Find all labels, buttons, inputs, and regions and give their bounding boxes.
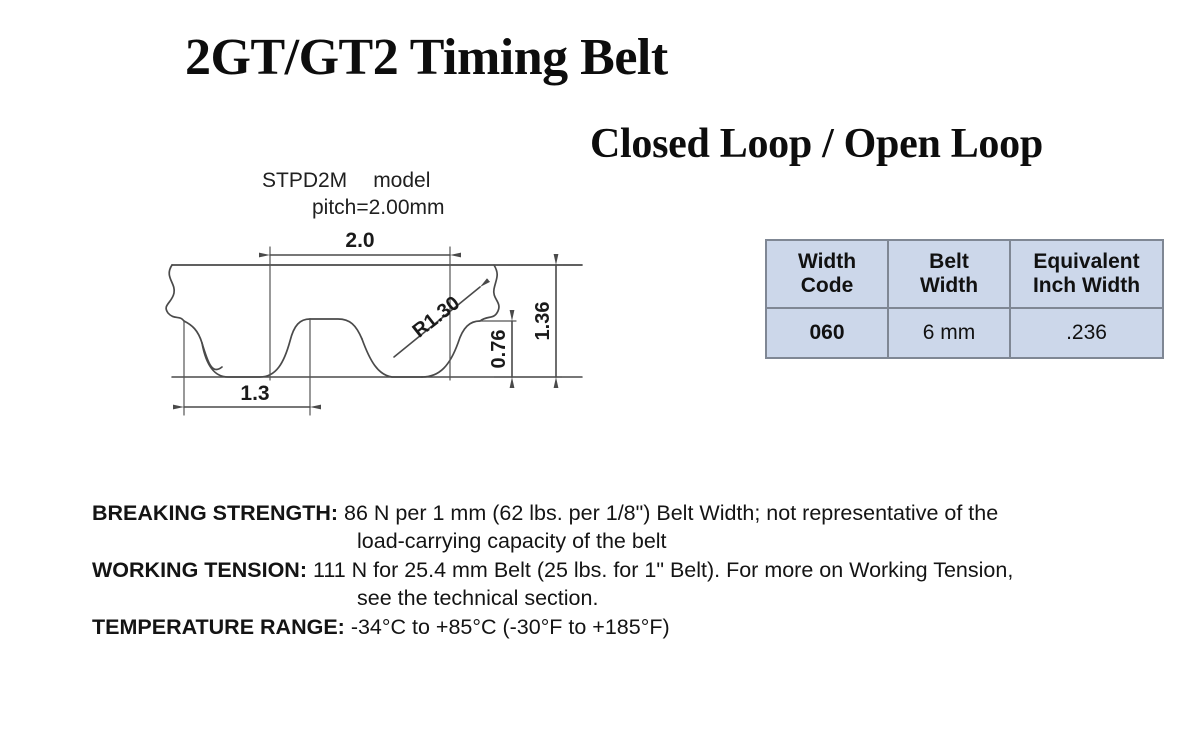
page-title: 2GT/GT2 Timing Belt: [185, 28, 668, 87]
spec-value: 86 N per 1 mm (62 lbs. per 1/8") Belt Wi…: [344, 501, 998, 525]
model-name: STPD2M: [262, 169, 347, 192]
belt-cross-section-drawing: 2.0 1.3 R1.30 0.76 1.36: [150, 225, 600, 435]
spec-breaking-strength: BREAKING STRENGTH: 86 N per 1 mm (62 lbs…: [92, 500, 1152, 556]
cell-width-code: 060: [766, 308, 888, 358]
page-subtitle: Closed Loop / Open Loop: [590, 120, 1043, 168]
spec-temperature-range: TEMPERATURE RANGE: -34°C to +85°C (-30°F…: [92, 614, 1152, 642]
spec-label: WORKING TENSION:: [92, 558, 307, 582]
header-line-1: Equivalent: [1019, 250, 1154, 274]
specifications-block: BREAKING STRENGTH: 86 N per 1 mm (62 lbs…: [92, 500, 1152, 643]
header-line-2: Width: [897, 274, 1001, 298]
table-header-equivalent-inch-width: Equivalent Inch Width: [1010, 240, 1163, 308]
table-row: 060 6 mm .236: [766, 308, 1163, 358]
spec-continuation: see the technical section.: [92, 585, 1152, 613]
model-pitch: pitch=2.00mm: [262, 195, 444, 222]
model-word: model: [373, 169, 430, 192]
cell-belt-width: 6 mm: [888, 308, 1010, 358]
table-header-width-code: Width Code: [766, 240, 888, 308]
spec-value: -34°C to +85°C (-30°F to +185°F): [351, 615, 670, 639]
dimension-label-radius: R1.30: [409, 292, 465, 342]
spec-working-tension: WORKING TENSION: 111 N for 25.4 mm Belt …: [92, 557, 1152, 613]
cell-equivalent-inch-width: .236: [1010, 308, 1163, 358]
dimension-label-tooth-width: 1.3: [240, 382, 269, 405]
belt-width-table: Width Code Belt Width Equivalent Inch Wi…: [765, 239, 1164, 359]
spec-label: TEMPERATURE RANGE:: [92, 615, 345, 639]
header-line-1: Width: [775, 250, 879, 274]
dimension-label-total-thickness: 1.36: [532, 302, 554, 341]
spec-label: BREAKING STRENGTH:: [92, 501, 338, 525]
header-line-2: Inch Width: [1019, 274, 1154, 298]
model-caption: STPD2Mmodel pitch=2.00mm: [262, 168, 444, 222]
table-header-belt-width: Belt Width: [888, 240, 1010, 308]
header-line-1: Belt: [897, 250, 1001, 274]
dimension-label-pitch: 2.0: [345, 229, 374, 252]
table-header-row: Width Code Belt Width Equivalent Inch Wi…: [766, 240, 1163, 308]
spec-continuation: load-carrying capacity of the belt: [92, 528, 1152, 556]
dimension-label-tooth-height: 0.76: [488, 330, 510, 369]
spec-value: 111 N for 25.4 mm Belt (25 lbs. for 1" B…: [313, 558, 1013, 582]
header-line-2: Code: [775, 274, 879, 298]
